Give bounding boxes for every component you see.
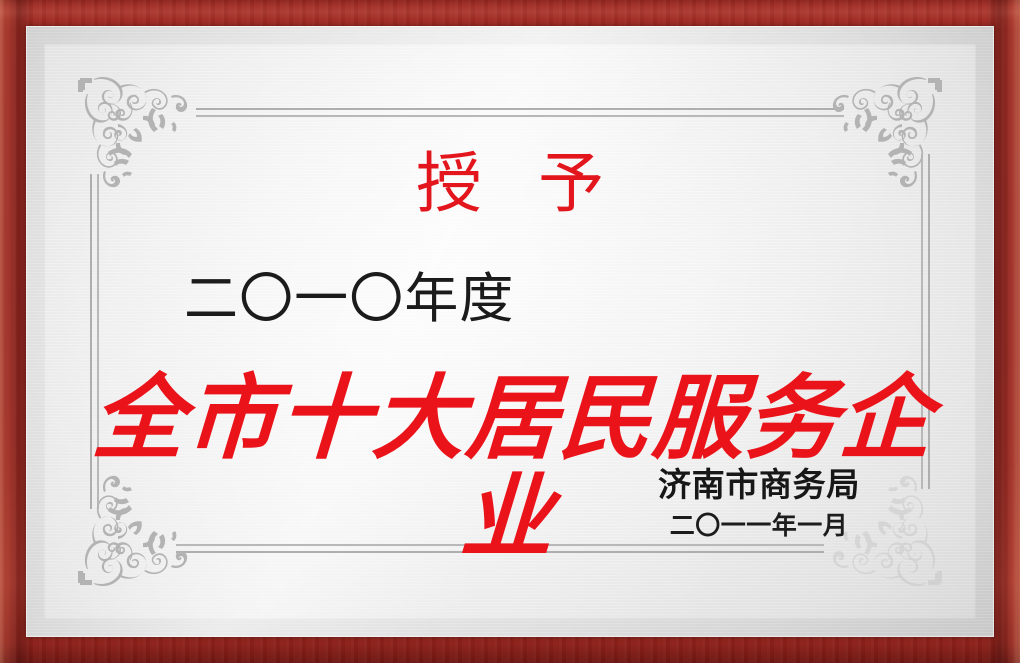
issuer-date-text: 二〇一一年一月 [658, 511, 860, 541]
field-brushed-texture [44, 44, 976, 619]
border-rule-right-inner [921, 154, 923, 489]
award-verb-text: 授 予 [44, 152, 976, 218]
award-year-text: 二〇一〇年度 [184, 272, 514, 326]
issuer-name-text: 济南市商务局 [658, 464, 860, 505]
award-plaque: 授 予 二〇一〇年度 全市十大居民服务企业 济南市商务局 二〇一一年一月 [0, 0, 1020, 663]
metal-plate: 授 予 二〇一〇年度 全市十大居民服务企业 济南市商务局 二〇一一年一月 [26, 26, 994, 637]
issuer-block: 济南市商务局 二〇一一年一月 [658, 464, 860, 541]
border-rule-left-inner [97, 174, 99, 509]
certificate-content: 授 予 二〇一〇年度 全市十大居民服务企业 济南市商务局 二〇一一年一月 [44, 44, 976, 619]
floral-scroll-corner-ornament-icon [74, 459, 204, 589]
border-rule-bottom-outer [176, 551, 824, 553]
border-rule-left-outer [90, 174, 92, 509]
field-sheen-highlight [44, 44, 976, 619]
floral-scroll-corner-ornament-icon [816, 74, 946, 204]
award-title-text: 全市十大居民服务企业 [44, 369, 976, 568]
border-rule-top-outer [196, 108, 844, 110]
border-rule-right-outer [928, 154, 930, 489]
border-rule-top-inner [196, 115, 844, 117]
border-rule-bottom-inner [176, 544, 824, 546]
floral-scroll-corner-ornament-icon [816, 459, 946, 589]
floral-scroll-corner-ornament-icon [74, 74, 204, 204]
certificate-field: 授 予 二〇一〇年度 全市十大居民服务企业 济南市商务局 二〇一一年一月 [44, 44, 976, 619]
